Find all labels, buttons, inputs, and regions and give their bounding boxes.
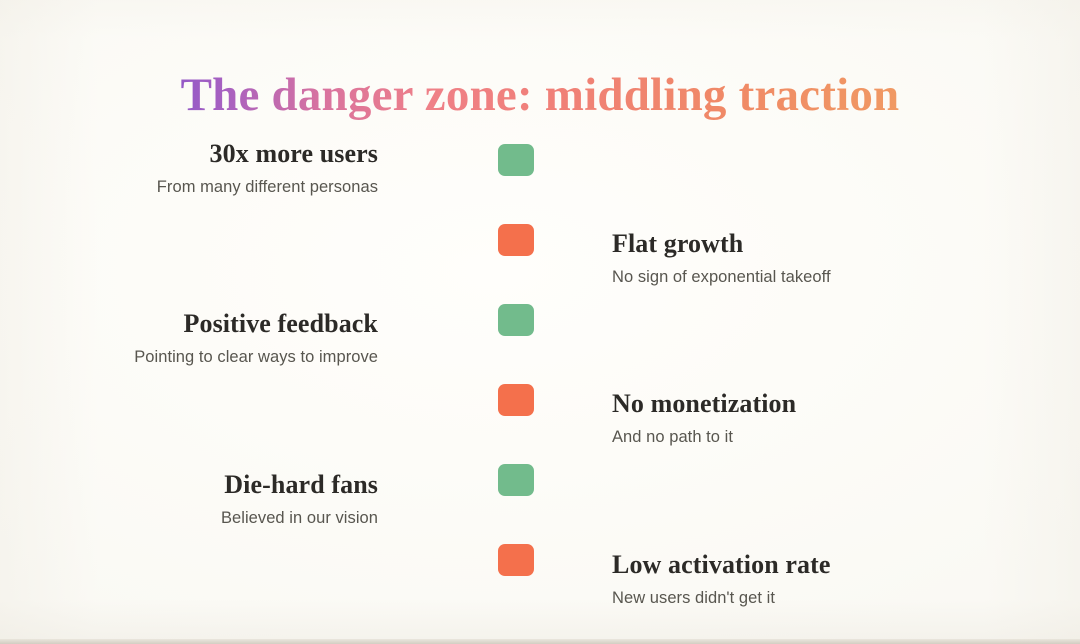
item-title: Low activation rate xyxy=(612,551,1032,579)
marker-square-positive xyxy=(498,144,534,176)
item-title: No monetization xyxy=(612,390,1032,418)
marker-square-negative xyxy=(498,544,534,576)
item-subtitle: And no path to it xyxy=(612,428,1032,448)
item-title: Positive feedback xyxy=(0,310,378,338)
item-title: 30x more users xyxy=(0,140,378,168)
item-subtitle: New users didn't get it xyxy=(612,589,1032,609)
item-title: Flat growth xyxy=(612,230,1032,258)
list-item: Flat growth No sign of exponential takeo… xyxy=(612,230,1032,288)
page-title: The danger zone: middling traction xyxy=(0,67,1080,123)
item-subtitle: Believed in our vision xyxy=(0,509,378,529)
slide-canvas: The danger zone: middling traction 30x m… xyxy=(0,0,1080,644)
item-title: Die-hard fans xyxy=(0,471,378,499)
list-item: 30x more users From many different perso… xyxy=(0,140,420,198)
marker-column xyxy=(498,144,534,624)
list-item: No monetization And no path to it xyxy=(612,390,1032,448)
marker-square-negative xyxy=(498,224,534,256)
marker-square-positive xyxy=(498,464,534,496)
marker-square-positive xyxy=(498,304,534,336)
list-item: Die-hard fans Believed in our vision xyxy=(0,471,420,529)
item-subtitle: Pointing to clear ways to improve xyxy=(0,348,378,368)
item-subtitle: No sign of exponential takeoff xyxy=(612,268,1032,288)
item-subtitle: From many different personas xyxy=(0,178,378,198)
slide-bottom-edge xyxy=(0,639,1080,644)
list-item: Positive feedback Pointing to clear ways… xyxy=(0,310,420,368)
list-item: Low activation rate New users didn't get… xyxy=(612,551,1032,609)
marker-square-negative xyxy=(498,384,534,416)
